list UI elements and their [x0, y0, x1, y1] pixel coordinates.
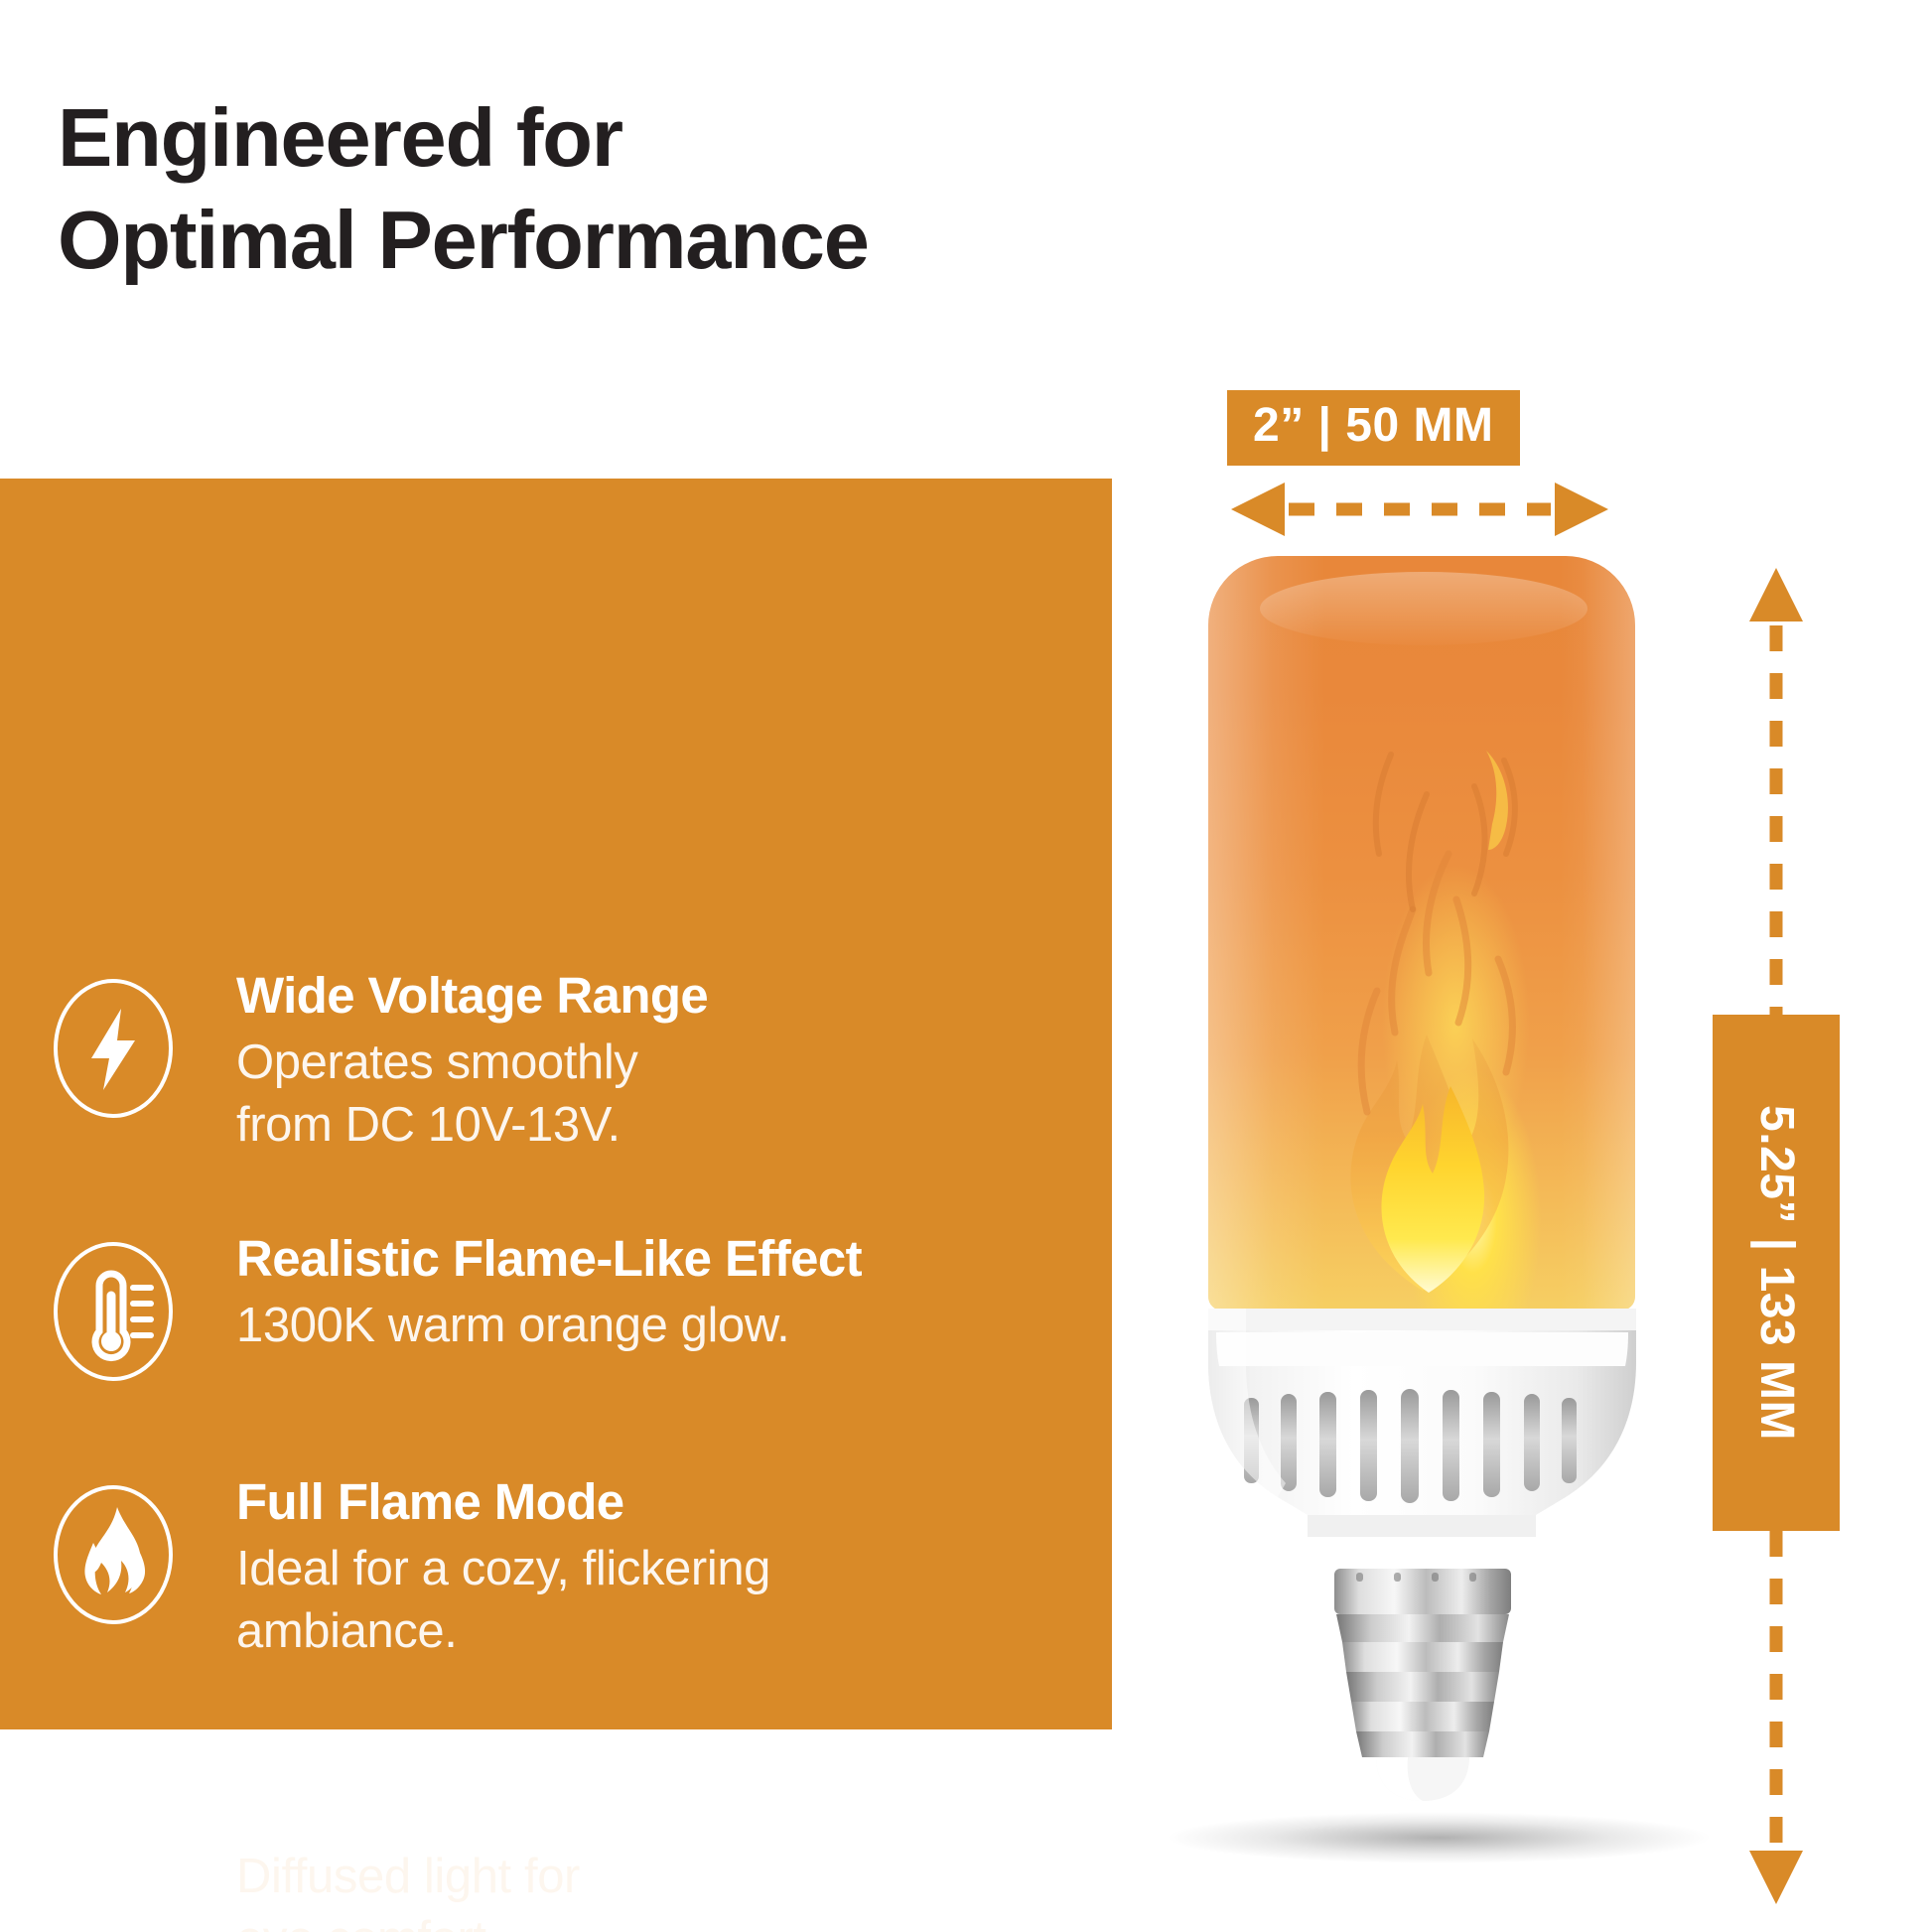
feature-text-block: Realistic Flame-Like Effect 1300K warm o…: [179, 1228, 1080, 1357]
headline-line-1: Engineered for: [58, 87, 1209, 190]
flame-icon: [48, 1481, 179, 1628]
headline-line-2: Optimal Performance: [58, 190, 1209, 292]
product-image-flame-bulb: [1186, 556, 1658, 1866]
feature-desc-line: Operates smoothly: [236, 1032, 1080, 1094]
feature-desc-line: eye comfort.: [236, 1908, 1080, 1932]
inner-flame-graphic: [1208, 556, 1635, 1311]
thermometer-icon: [48, 1238, 179, 1385]
feature-panel: Wide Voltage Range Operates smoothly fro…: [0, 479, 1112, 1729]
feature-text-block: Wide Voltage Range Operates smoothly fro…: [179, 965, 1080, 1157]
dimension-height-label: 5.25” | 133 MM: [1752, 1105, 1800, 1441]
infographic-page: Engineered for Optimal Performance Wide …: [0, 0, 1932, 1932]
feature-description: 1300K warm orange glow.: [236, 1295, 1080, 1357]
dimension-width-arrow: [1231, 481, 1608, 538]
dimension-height-badge: 5.25” | 133 MM: [1713, 1015, 1840, 1531]
feature-item-realistic-flame-like-effect: Realistic Flame-Like Effect 1300K warm o…: [48, 1228, 1080, 1385]
feature-description: Operates smoothly from DC 10V-13V.: [236, 1032, 1080, 1156]
feature-title: Frosted Outer Lens: [236, 1781, 1080, 1838]
product-drop-shadow: [1067, 1799, 1782, 1876]
feature-item-wide-voltage-range: Wide Voltage Range Operates smoothly fro…: [48, 965, 1080, 1157]
feature-title: Full Flame Mode: [236, 1473, 1080, 1530]
feature-desc-line: from DC 10V-13V.: [236, 1094, 1080, 1157]
page-title: Engineered for Optimal Performance: [58, 87, 1209, 292]
feature-item-frosted-outer-lens: Frosted Outer Lens Diffused light for ey…: [48, 1779, 1080, 1932]
dimension-width-badge: 2” | 50 MM: [1227, 390, 1520, 466]
feature-desc-line: 1300K warm orange glow.: [236, 1295, 1080, 1357]
bulb-e26-screw-base: [1328, 1569, 1517, 1817]
feature-description: Diffused light for eye comfort.: [236, 1846, 1080, 1932]
feature-title: Realistic Flame-Like Effect: [236, 1230, 1080, 1287]
feature-desc-line: Diffused light for: [236, 1846, 1080, 1908]
light-bulb-icon: [48, 1789, 179, 1932]
feature-text-block: Frosted Outer Lens Diffused light for ey…: [179, 1779, 1080, 1932]
feature-desc-line: ambiance.: [236, 1600, 1080, 1663]
feature-item-full-flame-mode: Full Flame Mode Ideal for a cozy, flicke…: [48, 1471, 1080, 1663]
feature-title: Wide Voltage Range: [236, 967, 1080, 1024]
bulb-heat-sink-housing: [1186, 1303, 1658, 1581]
feature-text-block: Full Flame Mode Ideal for a cozy, flicke…: [179, 1471, 1080, 1663]
feature-desc-line: Ideal for a cozy, flickering: [236, 1538, 1080, 1600]
feature-description: Ideal for a cozy, flickering ambiance.: [236, 1538, 1080, 1662]
lightning-bolt-icon: [48, 975, 179, 1122]
bulb-frosted-globe: [1208, 556, 1635, 1311]
